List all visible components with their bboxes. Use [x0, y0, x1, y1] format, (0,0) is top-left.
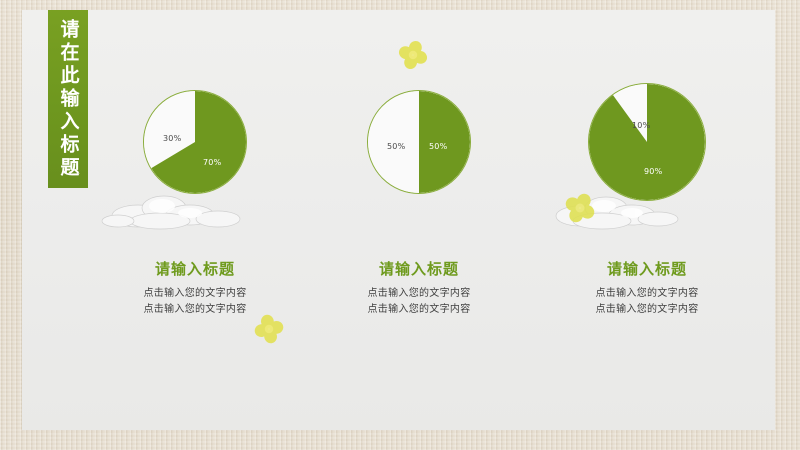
caption-2-line-2: 点击输入您的文字内容: [294, 302, 544, 319]
caption-2: 请输入标题 点击输入您的文字内容 点击输入您的文字内容: [294, 260, 544, 319]
caption-3: 请输入标题 点击输入您的文字内容 点击输入您的文字内容: [522, 260, 772, 319]
pie-chart-1-disc: [143, 90, 247, 194]
caption-3-line-1: 点击输入您的文字内容: [522, 286, 772, 303]
pie-chart-1-svg: [144, 91, 246, 193]
pie-chart-3-svg: [589, 84, 705, 200]
pie-chart-2-svg: [368, 91, 470, 193]
caption-3-heading: 请输入标题: [522, 260, 772, 280]
pie-chart-3-label-major: 90%: [644, 167, 662, 176]
slide-title-bar: 请在此输入标题: [48, 10, 88, 188]
pie-chart-3-label-minor: 10%: [632, 121, 650, 130]
caption-1-line-1: 点击输入您的文字内容: [70, 286, 320, 303]
column-2: 50% 50% 请输入标题 点击输入您的文字内容: [294, 10, 544, 430]
caption-1: 请输入标题 点击输入您的文字内容 点击输入您的文字内容: [70, 260, 320, 319]
caption-1-heading: 请输入标题: [70, 260, 320, 280]
slide-canvas: 请在此输入标题 30% 70%: [0, 0, 800, 450]
caption-2-line-1: 点击输入您的文字内容: [294, 286, 544, 303]
pie-chart-2-label-minor: 50%: [387, 142, 405, 151]
pie-chart-2-disc: [367, 90, 471, 194]
cloud-icon: [98, 188, 258, 230]
pie-chart-2[interactable]: 50% 50%: [367, 90, 471, 194]
pie-chart-1-label-major: 70%: [203, 158, 221, 167]
column-3: 10% 90% 请输入标题: [522, 10, 772, 430]
caption-1-line-2: 点击输入您的文字内容: [70, 302, 320, 319]
pie-chart-1-label-minor: 30%: [163, 134, 181, 143]
column-1: 30% 70% 请输入标题 点击输入您的文字: [70, 10, 320, 430]
pie-chart-3-disc: [588, 83, 706, 201]
pie-chart-1[interactable]: 30% 70%: [143, 90, 247, 194]
caption-2-heading: 请输入标题: [294, 260, 544, 280]
columns-container: 30% 70% 请输入标题 点击输入您的文字: [22, 10, 775, 430]
caption-3-line-2: 点击输入您的文字内容: [522, 302, 772, 319]
pie-chart-3[interactable]: 10% 90%: [588, 83, 706, 201]
pie-chart-2-label-major: 50%: [429, 142, 447, 151]
page-title: 请在此输入标题: [59, 19, 78, 180]
